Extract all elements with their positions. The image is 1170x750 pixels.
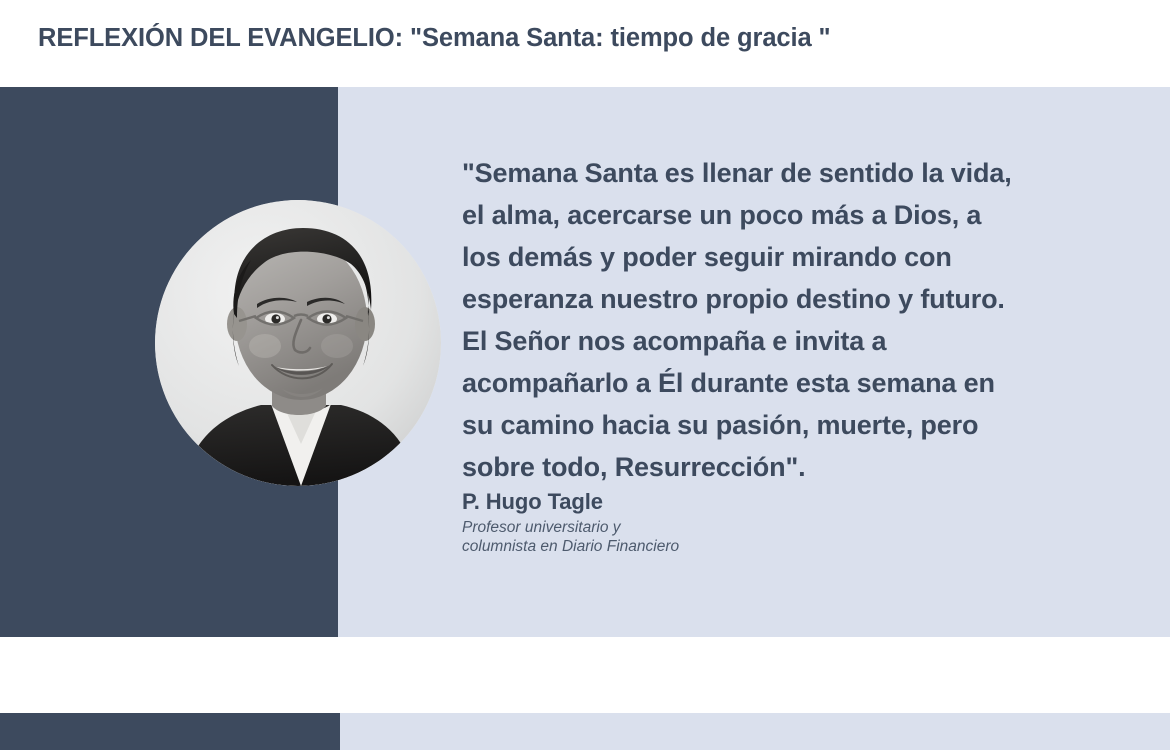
author-name: P. Hugo Tagle — [462, 487, 1062, 516]
bottom-strip-dark — [0, 713, 340, 750]
author-role: Profesor universitario y columnista en D… — [462, 518, 1062, 556]
author-role-line2: columnista en Diario Financiero — [462, 538, 679, 555]
header-band: REFLEXIÓN DEL EVANGELIO: "Semana Santa: … — [0, 0, 1170, 87]
bottom-strip-light — [340, 713, 1170, 750]
quote-line: acompañarlo a Él durante esta semana en — [462, 368, 995, 398]
quote-line: su camino hacia su pasión, muerte, pero — [462, 410, 978, 440]
reflection-poster: REFLEXIÓN DEL EVANGELIO: "Semana Santa: … — [0, 0, 1170, 750]
author-role-line1: Profesor universitario y — [462, 519, 621, 536]
attribution: P. Hugo Tagle Profesor universitario y c… — [462, 487, 1062, 556]
quote-block: "Semana Santa es llenar de sentido la vi… — [462, 152, 1062, 488]
quote-line: El Señor nos acompaña e invita a — [462, 326, 886, 356]
quote-line: esperanza nuestro propio destino y futur… — [462, 284, 1005, 314]
page-title: REFLEXIÓN DEL EVANGELIO: "Semana Santa: … — [38, 24, 831, 53]
quote-line: sobre todo, Resurrección". — [462, 452, 805, 482]
quote-line: el alma, acercarse un poco más a Dios, a — [462, 200, 981, 230]
quote-line: los demás y poder seguir mirando con — [462, 242, 952, 272]
quote-text: "Semana Santa es llenar de sentido la vi… — [462, 152, 1062, 488]
quote-line: "Semana Santa es llenar de sentido la vi… — [462, 158, 1012, 188]
footer-band: El sentido de la actividad empresarial — [0, 637, 1170, 713]
avatar — [155, 200, 441, 486]
